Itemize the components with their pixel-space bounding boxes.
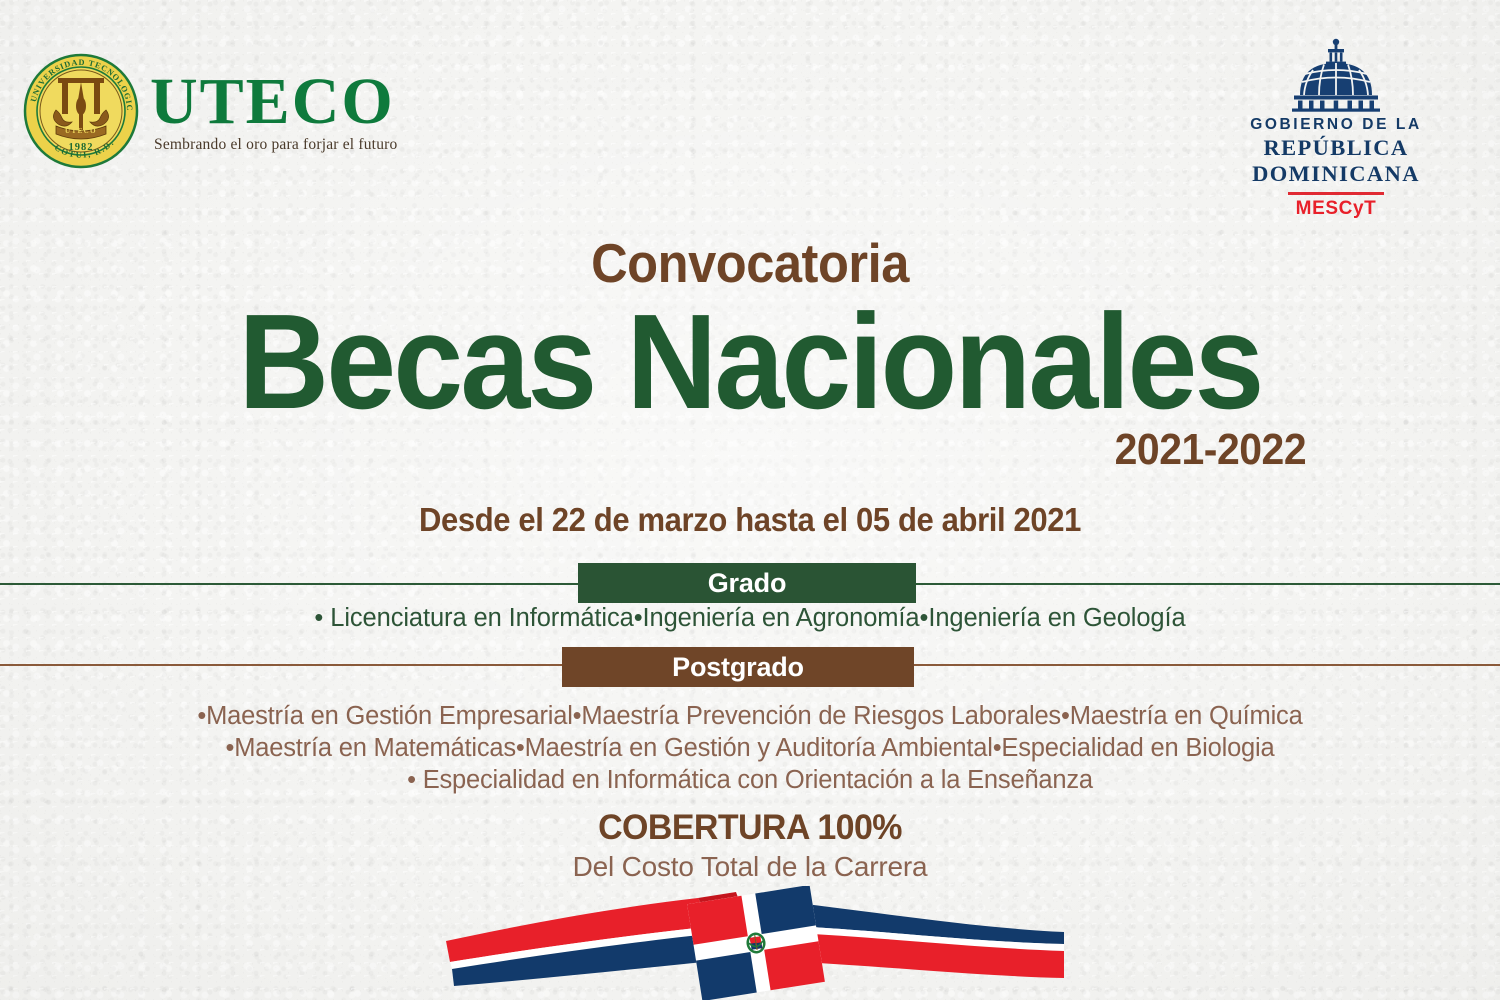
gov-divider bbox=[1288, 192, 1384, 195]
poster-title: Becas Nacionales bbox=[53, 293, 1448, 431]
coverage-subtitle: Del Costo Total de la Carrera bbox=[0, 851, 1500, 883]
grado-list-line: • Licenciatura en Informática•Ingeniería… bbox=[0, 603, 1500, 635]
gov-line-1: GOBIERNO DE LA bbox=[1186, 116, 1486, 134]
uteco-name: UTECO bbox=[150, 69, 397, 135]
band-postgrado: Postgrado bbox=[562, 647, 914, 687]
dominican-dome-icon bbox=[1280, 38, 1392, 112]
headline-block: Convocatoria Becas Nacionales 2021-2022 … bbox=[0, 236, 1500, 539]
gov-line-2: REPÚBLICA DOMINICANA bbox=[1186, 135, 1486, 187]
postgrado-list-line: •Maestría en Gestión Empresarial•Maestrí… bbox=[0, 700, 1500, 732]
uteco-seal-icon: UNIVERSIDAD TECNOLOGICA DEL CIBAO ORIENT… bbox=[22, 52, 140, 170]
poster-canvas: UNIVERSIDAD TECNOLOGICA DEL CIBAO ORIENT… bbox=[0, 0, 1500, 1000]
svg-text:UTECO: UTECO bbox=[65, 127, 97, 135]
kicker-convocatoria: Convocatoria bbox=[60, 236, 1440, 291]
svg-text:1982: 1982 bbox=[69, 142, 94, 153]
gov-agency-mescyt: MESCyT bbox=[1186, 198, 1486, 220]
band-grado: Grado bbox=[578, 563, 916, 603]
coverage-title: COBERTURA 100% bbox=[23, 808, 1478, 848]
uteco-wordmark: UTECO Sembrando el oro para forjar el fu… bbox=[150, 69, 397, 153]
date-range: Desde el 22 de marzo hasta el 05 de abri… bbox=[45, 501, 1455, 539]
poster-years: 2021-2022 bbox=[53, 425, 1448, 475]
dominican-flag-ribbon-icon bbox=[436, 886, 1076, 1000]
uteco-logo: UNIVERSIDAD TECNOLOGICA DEL CIBAO ORIENT… bbox=[22, 52, 397, 170]
postgrado-list-line: • Especialidad en Informática con Orient… bbox=[0, 764, 1500, 796]
coverage-block: COBERTURA 100% Del Costo Total de la Car… bbox=[0, 808, 1500, 883]
postgrado-list-line: •Maestría en Matemáticas•Maestría en Ges… bbox=[0, 732, 1500, 764]
government-logo: GOBIERNO DE LA REPÚBLICA DOMINICANA MESC… bbox=[1186, 38, 1486, 220]
postgrado-program-list: •Maestría en Gestión Empresarial•Maestrí… bbox=[0, 700, 1500, 796]
uteco-tagline: Sembrando el oro para forjar el futuro bbox=[154, 137, 397, 153]
grado-program-list: • Licenciatura en Informática•Ingeniería… bbox=[0, 603, 1500, 635]
